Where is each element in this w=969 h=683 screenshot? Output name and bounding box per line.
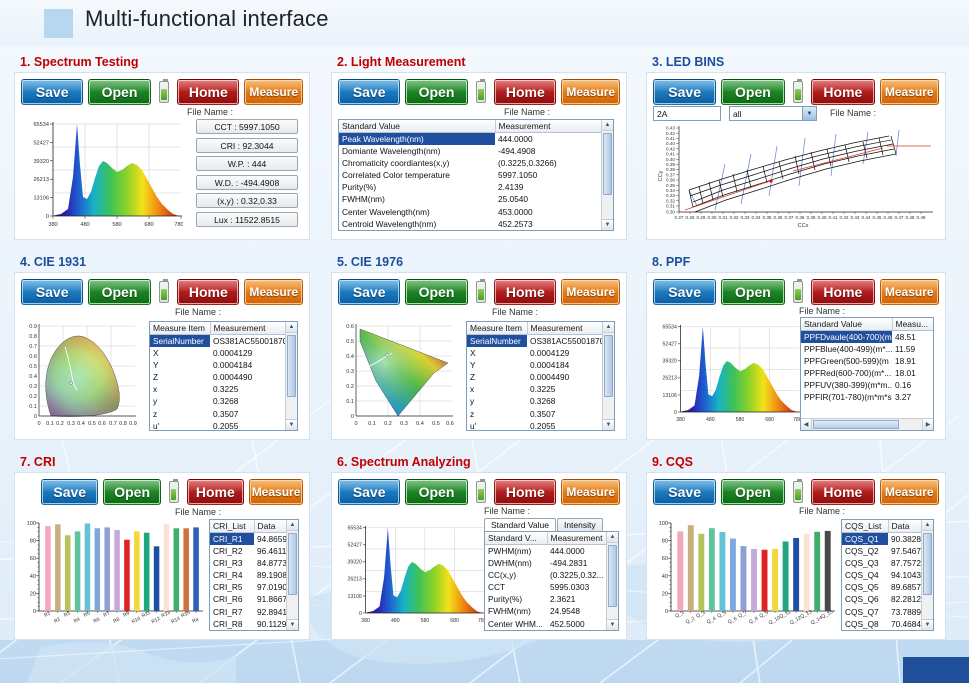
open-button[interactable]: Open bbox=[405, 479, 467, 505]
measured-point-marker bbox=[386, 354, 389, 357]
panel-cqs: 9. CQS Save Open Home Measure File Name … bbox=[646, 455, 946, 640]
table-row[interactable]: x0.3225 bbox=[467, 383, 615, 395]
tab-standard-value[interactable]: Standard Value bbox=[484, 518, 556, 531]
table-cell: x bbox=[150, 383, 210, 395]
home-button[interactable]: Home bbox=[811, 479, 874, 505]
table-row[interactable]: FWHM(nm)25.0540 bbox=[339, 193, 614, 205]
svg-text:40: 40 bbox=[662, 574, 668, 580]
measurement-table[interactable]: Standard Value Measurement Peak Waveleng… bbox=[338, 119, 614, 231]
vertical-scrollbar[interactable]: ▲ ▼ bbox=[921, 520, 933, 630]
scroll-thumb[interactable] bbox=[923, 533, 932, 595]
svg-text:R12: R12 bbox=[151, 616, 162, 626]
cqs-table[interactable]: CQS_List Data CQS_Q190.3828CQS_Q297.5467… bbox=[841, 519, 934, 631]
col-standard-value: Standard V... bbox=[485, 532, 547, 545]
table-cell: (0.3225,0.3266) bbox=[495, 157, 614, 169]
svg-text:0.8: 0.8 bbox=[119, 421, 127, 427]
svg-text:26213: 26213 bbox=[348, 577, 363, 583]
svg-text:0.3: 0.3 bbox=[29, 384, 37, 390]
table: Standard Value Measu... PPFDvaule(400-70… bbox=[801, 318, 934, 404]
cie-1976-chart: 0.60.50.4 0.30.20.10 00.10.20.3 0.40.50.… bbox=[338, 321, 460, 431]
scroll-down-icon[interactable]: ▼ bbox=[922, 619, 933, 630]
table-row[interactable]: Chromaticity coordiantes(x,y)(0.3225,0.3… bbox=[339, 157, 614, 169]
panel-led-bins: 3. LED BINS Save Open Home Measure 2A al… bbox=[646, 55, 946, 240]
svg-text:0.7: 0.7 bbox=[109, 421, 117, 427]
panel-label: CRI bbox=[34, 455, 56, 469]
scroll-up-icon[interactable]: ▲ bbox=[607, 532, 618, 543]
value-cri[interactable]: CRI : 92.3044 bbox=[196, 138, 298, 153]
save-button[interactable]: Save bbox=[338, 479, 400, 505]
table-cell: u' bbox=[150, 420, 210, 431]
table-row[interactable]: SerialNumberOS381AC55001870 bbox=[150, 335, 298, 348]
svg-text:0: 0 bbox=[351, 414, 354, 420]
measure-button[interactable]: Measure bbox=[244, 79, 303, 105]
table-row[interactable]: CRI92.3044 bbox=[339, 230, 614, 231]
svg-text:0.38: 0.38 bbox=[796, 215, 805, 220]
cie-1931-chart: 0.90.80.70.6 0.50.40.30.2 0.10 00.10.20.… bbox=[21, 321, 143, 431]
table-row[interactable]: Y0.0004184 bbox=[467, 359, 615, 371]
table-cell: x bbox=[467, 383, 527, 395]
table-row[interactable]: Correlated Color temperature5997.1050 bbox=[339, 169, 614, 181]
svg-text:52427: 52427 bbox=[348, 543, 363, 549]
table-row[interactable]: PPFBlue(400-499)(m*...11.59 bbox=[801, 343, 934, 355]
scroll-down-icon[interactable]: ▼ bbox=[607, 619, 618, 630]
scroll-up-icon[interactable]: ▲ bbox=[287, 520, 298, 531]
scroll-thumb[interactable] bbox=[608, 545, 617, 607]
svg-text:65534: 65534 bbox=[33, 122, 49, 128]
table-cell: 3.27 bbox=[892, 391, 934, 403]
led-bins-chart: 0.430.420.410.40 0.420.410.400.39 0.380.… bbox=[653, 124, 935, 230]
measurement-table[interactable]: Measure Item Measurement SerialNumberOS3… bbox=[466, 321, 615, 431]
svg-text:0.7: 0.7 bbox=[29, 344, 37, 350]
table-cell: PPFBlue(400-499)(m*... bbox=[801, 343, 892, 355]
table-cell: CQS_Q1 bbox=[842, 533, 888, 546]
scroll-up-icon[interactable]: ▲ bbox=[603, 322, 614, 333]
table-row[interactable]: z0.3507 bbox=[150, 408, 298, 420]
home-button[interactable]: Home bbox=[177, 79, 239, 105]
table-cell: SerialNumber bbox=[150, 335, 210, 348]
bin-filter-value: all bbox=[733, 109, 742, 119]
table-cell: FWHM(nm) bbox=[485, 605, 547, 617]
save-button[interactable]: Save bbox=[653, 479, 716, 505]
table-row[interactable]: Center WHM...452.5000 bbox=[485, 618, 619, 630]
table-cell: PPFRed(600-700)(m*... bbox=[801, 367, 892, 379]
bar bbox=[114, 530, 120, 611]
file-name-label: File Name : bbox=[799, 506, 845, 516]
table-row[interactable]: PWHM(nm)444.0000 bbox=[485, 545, 619, 558]
table-body: PPFDvaule(400-700)(m...48.51PPFBlue(400-… bbox=[801, 331, 934, 404]
save-button[interactable]: Save bbox=[338, 79, 400, 105]
svg-text:52427: 52427 bbox=[663, 342, 678, 348]
toolbar: Save Open Home Measure bbox=[653, 478, 939, 505]
col-measure-item: Measure Item bbox=[150, 322, 210, 335]
vertical-scrollbar[interactable]: ▲ ▼ bbox=[601, 120, 613, 230]
svg-text:0.37: 0.37 bbox=[785, 215, 794, 220]
open-button[interactable]: Open bbox=[721, 479, 784, 505]
table-row[interactable]: PPFRed(600-700)(m*...18.01 bbox=[801, 367, 934, 379]
table-cell: CRI_R6 bbox=[210, 593, 254, 605]
bar bbox=[75, 531, 81, 611]
value-lux[interactable]: Lux : 11522.8515 bbox=[196, 212, 298, 227]
svg-text:0.32: 0.32 bbox=[730, 215, 739, 220]
page-title: Multi-functional interface bbox=[85, 6, 329, 32]
svg-text:39320: 39320 bbox=[663, 359, 678, 365]
panel-cie-1931: 4. CIE 1931 Save Open Home Measure File … bbox=[14, 255, 310, 440]
bar bbox=[719, 532, 725, 611]
panel-number: 3. bbox=[652, 55, 662, 69]
table-cell: Domiante Wavelength(nm) bbox=[339, 145, 495, 157]
svg-text:0: 0 bbox=[34, 414, 37, 420]
table-row[interactable]: Purity(%)2.3621 bbox=[485, 593, 619, 605]
table-cell: Y bbox=[467, 359, 527, 371]
svg-text:100: 100 bbox=[659, 521, 668, 527]
svg-text:0.6: 0.6 bbox=[29, 354, 37, 360]
open-button[interactable]: Open bbox=[88, 279, 150, 305]
table-row[interactable]: CCT5995.0303 bbox=[485, 581, 619, 593]
table-row[interactable]: X0.0004129 bbox=[150, 347, 298, 359]
svg-text:0.1: 0.1 bbox=[346, 399, 354, 405]
svg-text:0.5: 0.5 bbox=[346, 339, 354, 345]
svg-text:0.9: 0.9 bbox=[29, 324, 37, 330]
svg-text:39320: 39320 bbox=[348, 560, 363, 566]
table-cell: 18.91 bbox=[892, 355, 934, 367]
scroll-thumb[interactable] bbox=[287, 335, 296, 397]
table-cell: u' bbox=[467, 420, 527, 431]
toolbar: Save Open Home Measure bbox=[338, 478, 620, 505]
scroll-right-icon[interactable]: ▶ bbox=[922, 419, 933, 430]
svg-text:CCx: CCx bbox=[798, 223, 809, 229]
battery-icon bbox=[169, 481, 179, 503]
col-cri-list: CRI_List bbox=[210, 520, 254, 533]
bar bbox=[814, 532, 820, 611]
table-cell: 444.0000 bbox=[495, 133, 614, 146]
table-cell: Z bbox=[467, 371, 527, 383]
table-cell: CRI_R5 bbox=[210, 581, 254, 593]
panel-label: CQS bbox=[666, 455, 693, 469]
table-cell: CQS_Q2 bbox=[842, 545, 888, 557]
measure-button[interactable]: Measure bbox=[561, 279, 620, 305]
table-row[interactable]: u'0.2055 bbox=[467, 420, 615, 431]
table-row[interactable]: DWHM(nm)-494.2831 bbox=[485, 557, 619, 569]
svg-text:0.3: 0.3 bbox=[346, 369, 354, 375]
scroll-down-icon[interactable]: ▼ bbox=[602, 219, 613, 230]
tab-intensity[interactable]: Intensity bbox=[557, 518, 603, 531]
bar bbox=[193, 527, 199, 611]
panel-number: 2. bbox=[337, 55, 347, 69]
save-button[interactable]: Save bbox=[41, 479, 98, 505]
home-button[interactable]: Home bbox=[187, 479, 244, 505]
scroll-down-icon[interactable]: ▼ bbox=[287, 619, 298, 630]
table-cell: CRI_R8 bbox=[210, 618, 254, 630]
table-cell: CQS_Q9 bbox=[842, 630, 888, 631]
value-wp[interactable]: W.P. : 444 bbox=[196, 156, 298, 171]
battery-icon bbox=[793, 81, 804, 103]
measure-button[interactable]: Measure bbox=[880, 479, 939, 505]
table-cell: Purity(%) bbox=[339, 181, 495, 193]
spectrum-analyzing-chart: 655345242739320 26213131060 380480580 68… bbox=[336, 517, 486, 633]
table-row[interactable]: Centroid WH...451.9012 bbox=[485, 630, 619, 631]
measure-button[interactable]: Measure bbox=[880, 279, 939, 305]
svg-text:480: 480 bbox=[706, 417, 715, 423]
measure-button[interactable]: Measure bbox=[561, 479, 620, 505]
bar bbox=[85, 523, 91, 611]
save-button[interactable]: Save bbox=[653, 79, 716, 105]
ppf-spectrum-chart: 655345242739320 26213131060 380480580 68… bbox=[651, 316, 801, 432]
table-row[interactable]: Centroid Wavelength(nm)452.2573 bbox=[339, 218, 614, 230]
table-row[interactable]: PPFUV(380-399)(m*m...0.16 bbox=[801, 379, 934, 391]
table-cell: X bbox=[467, 347, 527, 359]
scroll-up-icon[interactable]: ▲ bbox=[286, 322, 297, 333]
battery-icon bbox=[793, 481, 804, 503]
table-cell: CRI_R4 bbox=[210, 569, 254, 581]
svg-text:Ra: Ra bbox=[191, 616, 200, 624]
table-row[interactable]: u'0.2055 bbox=[150, 420, 298, 431]
table-row[interactable]: X0.0004129 bbox=[467, 347, 615, 359]
scroll-thumb[interactable] bbox=[604, 335, 613, 397]
save-button[interactable]: Save bbox=[21, 279, 83, 305]
measure-button[interactable]: Measure bbox=[561, 79, 620, 105]
horizontal-scrollbar[interactable]: ◀ ▶ bbox=[801, 418, 933, 430]
table-row[interactable]: z0.3507 bbox=[467, 408, 615, 420]
battery-icon bbox=[159, 81, 169, 103]
table-row[interactable]: y0.3268 bbox=[467, 395, 615, 407]
svg-text:0: 0 bbox=[674, 410, 677, 416]
home-button[interactable]: Home bbox=[177, 279, 239, 305]
measured-point-marker bbox=[70, 382, 73, 385]
chevron-down-icon[interactable]: ▼ bbox=[802, 107, 816, 120]
open-button[interactable]: Open bbox=[721, 79, 784, 105]
svg-text:CCy: CCy bbox=[658, 170, 664, 181]
table-cell: z bbox=[150, 408, 210, 420]
bar bbox=[751, 549, 757, 611]
file-name-label: File Name : bbox=[504, 107, 550, 117]
panel-title: 2. Light Measurement bbox=[337, 55, 627, 69]
table-row[interactable]: x0.3225 bbox=[150, 383, 298, 395]
svg-text:0.4: 0.4 bbox=[346, 354, 354, 360]
panel-ppf: 8. PPF Save Open Home Measure File Name … bbox=[646, 255, 946, 440]
table-row[interactable]: Z0.0004490 bbox=[467, 371, 615, 383]
value-cct[interactable]: CCT : 5997.1050 bbox=[196, 119, 298, 134]
open-button[interactable]: Open bbox=[405, 279, 467, 305]
vertical-scrollbar[interactable]: ▲ ▼ bbox=[285, 322, 297, 430]
table-row[interactable]: PPFGreen(500-599)(m ...18.91 bbox=[801, 355, 934, 367]
vertical-scrollbar[interactable]: ▲ ▼ bbox=[602, 322, 614, 430]
bar bbox=[174, 528, 180, 611]
svg-text:R6: R6 bbox=[93, 616, 102, 624]
table-cell: 5997.1050 bbox=[495, 169, 614, 181]
file-name-label: File Name : bbox=[484, 506, 530, 516]
svg-text:0.2: 0.2 bbox=[29, 394, 37, 400]
measure-button[interactable]: Measure bbox=[880, 79, 939, 105]
vertical-scrollbar[interactable]: ▲ ▼ bbox=[286, 520, 298, 630]
home-button[interactable]: Home bbox=[494, 79, 556, 105]
cri-bar-chart: 020406080100 R1R2R3R4R5R6R7R8R9R10R11R12… bbox=[17, 519, 207, 631]
svg-text:0.4: 0.4 bbox=[29, 374, 37, 380]
file-name-label: File Name : bbox=[492, 307, 538, 317]
panel-cie-1976: 5. CIE 1976 Save Open Home Measure File … bbox=[331, 255, 627, 440]
table-cell: Purity(%) bbox=[485, 593, 547, 605]
svg-text:380: 380 bbox=[676, 417, 685, 423]
bin-filter-select[interactable]: all ▼ bbox=[729, 106, 817, 121]
scroll-thumb[interactable] bbox=[813, 420, 899, 429]
svg-text:Q_2: Q_2 bbox=[685, 616, 696, 626]
col-cqs-list: CQS_List bbox=[842, 520, 888, 533]
table-cell: Center WHM... bbox=[485, 618, 547, 630]
table-row[interactable]: PPFDvaule(400-700)(m...48.51 bbox=[801, 331, 934, 344]
bar bbox=[825, 531, 831, 611]
svg-text:R5: R5 bbox=[83, 610, 92, 618]
open-button[interactable]: Open bbox=[88, 79, 150, 105]
scroll-thumb[interactable] bbox=[603, 133, 612, 195]
measure-button[interactable]: Measure bbox=[249, 479, 303, 505]
table-cell: CQS_Q8 bbox=[842, 618, 888, 630]
spectrum-chart: 655345242739320 26213131060 380480580 68… bbox=[21, 119, 183, 231]
table-header-row: Measure Item Measurement bbox=[150, 322, 298, 335]
table-cell: CC(x,y) bbox=[485, 569, 547, 581]
table-row[interactable]: CC(x,y)(0.3225,0.32... bbox=[485, 569, 619, 581]
table-cell: CRI_R3 bbox=[210, 557, 254, 569]
toolbar: Save Open Home Measure bbox=[21, 278, 303, 305]
table-cell: -494.4908 bbox=[495, 145, 614, 157]
save-button[interactable]: Save bbox=[653, 279, 716, 305]
bar bbox=[124, 540, 130, 611]
home-button[interactable]: Home bbox=[494, 479, 556, 505]
svg-text:80: 80 bbox=[662, 539, 668, 545]
svg-text:13106: 13106 bbox=[663, 393, 678, 399]
svg-text:0.2: 0.2 bbox=[56, 421, 64, 427]
scroll-left-icon[interactable]: ◀ bbox=[801, 419, 812, 430]
battery-icon bbox=[476, 81, 486, 103]
table-cell: 2.4139 bbox=[495, 181, 614, 193]
vertical-scrollbar[interactable]: ▲ ▼ bbox=[606, 532, 618, 630]
table-cell: Centroid WH... bbox=[485, 630, 547, 631]
toolbar: Save Open Home Measure bbox=[338, 278, 620, 305]
ppf-table[interactable]: Standard Value Measu... PPFDvaule(400-70… bbox=[800, 317, 934, 431]
analyzing-table[interactable]: Standard V... Measurement PWHM(nm)444.00… bbox=[484, 531, 619, 631]
bar bbox=[45, 526, 51, 611]
panel-number: 9. bbox=[652, 455, 662, 469]
measure-button[interactable]: Measure bbox=[244, 279, 303, 305]
svg-text:0: 0 bbox=[359, 611, 362, 617]
table-row[interactable]: Domiante Wavelength(nm)-494.4908 bbox=[339, 145, 614, 157]
table-body: Peak Wavelength(nm)444.0000Domiante Wave… bbox=[339, 133, 614, 232]
open-button[interactable]: Open bbox=[721, 279, 784, 305]
col-measure-item: Measure Item bbox=[467, 322, 527, 335]
svg-text:580: 580 bbox=[736, 417, 745, 423]
bar bbox=[65, 535, 71, 611]
cri-table[interactable]: CRI_List Data CRI_R194.8659CRI_R296.4611… bbox=[209, 519, 299, 631]
svg-text:0: 0 bbox=[33, 609, 36, 615]
svg-text:0.40: 0.40 bbox=[818, 215, 827, 220]
table-row[interactable]: FWHM(nm)24.9548 bbox=[485, 605, 619, 617]
table-cell: 48.51 bbox=[892, 331, 934, 344]
svg-text:80: 80 bbox=[30, 539, 36, 545]
battery-icon bbox=[793, 281, 804, 303]
save-button[interactable]: Save bbox=[338, 279, 400, 305]
table-row[interactable]: SerialNumberOS381AC55001870 bbox=[467, 335, 615, 348]
table-row[interactable]: y0.3268 bbox=[150, 395, 298, 407]
table-header-row: Standard V... Measurement bbox=[485, 532, 619, 545]
bar bbox=[183, 528, 189, 611]
svg-text:0.1: 0.1 bbox=[368, 421, 376, 427]
bar bbox=[144, 533, 150, 611]
home-button[interactable]: Home bbox=[494, 279, 556, 305]
panel-title: 1. Spectrum Testing bbox=[20, 55, 310, 69]
svg-text:65534: 65534 bbox=[348, 526, 363, 532]
svg-text:0.47: 0.47 bbox=[895, 215, 904, 220]
scroll-up-icon[interactable]: ▲ bbox=[922, 520, 933, 531]
scroll-down-icon[interactable]: ▼ bbox=[603, 419, 614, 430]
svg-text:0: 0 bbox=[46, 214, 49, 220]
measured-point-marker bbox=[769, 179, 772, 182]
home-button[interactable]: Home bbox=[811, 279, 874, 305]
table-header-row: Standard Value Measurement bbox=[339, 120, 614, 133]
svg-text:380: 380 bbox=[48, 222, 57, 228]
table-cell: CQS_Q5 bbox=[842, 581, 888, 593]
svg-text:0.42: 0.42 bbox=[840, 215, 849, 220]
panel-light-measurement: 2. Light Measurement Save Open Home Meas… bbox=[331, 55, 627, 240]
table-row[interactable]: Center Wavelength(nm)453.0000 bbox=[339, 206, 614, 218]
table-cell: CRI_R2 bbox=[210, 545, 254, 557]
table-row[interactable]: Y0.0004184 bbox=[150, 359, 298, 371]
scroll-thumb[interactable] bbox=[288, 533, 297, 595]
svg-text:580: 580 bbox=[421, 618, 430, 624]
table-cell: FWHM(nm) bbox=[339, 193, 495, 205]
page-header: Multi-functional interface bbox=[0, 0, 969, 46]
panel-title: 4. CIE 1931 bbox=[20, 255, 310, 269]
table-cell: 92.3044 bbox=[495, 230, 614, 231]
svg-text:0.2: 0.2 bbox=[346, 384, 354, 390]
save-button[interactable]: Save bbox=[21, 79, 83, 105]
measurement-table[interactable]: Measure Item Measurement SerialNumberOS3… bbox=[149, 321, 298, 431]
file-name-label: File Name : bbox=[175, 507, 221, 517]
battery-icon bbox=[476, 481, 486, 503]
value-xy[interactable]: (x,y) : 0.32,0.33 bbox=[196, 193, 298, 208]
table-row[interactable]: PPFIR(701-780)(m*m*s)3.27 bbox=[801, 391, 934, 403]
table-cell: Chromaticity coordiantes(x,y) bbox=[339, 157, 495, 169]
table-header-row: Standard Value Measu... bbox=[801, 318, 934, 331]
scroll-down-icon[interactable]: ▼ bbox=[286, 419, 297, 430]
svg-text:60: 60 bbox=[662, 556, 668, 562]
svg-text:0.44: 0.44 bbox=[862, 215, 871, 220]
toolbar: Save Open Home Measure bbox=[21, 478, 303, 505]
open-button[interactable]: Open bbox=[103, 479, 160, 505]
table-row[interactable]: Peak Wavelength(nm)444.0000 bbox=[339, 133, 614, 146]
svg-text:0.43: 0.43 bbox=[851, 215, 860, 220]
svg-text:0.6: 0.6 bbox=[446, 421, 454, 427]
bin-code-input[interactable]: 2A bbox=[653, 106, 721, 121]
home-button[interactable]: Home bbox=[811, 79, 874, 105]
svg-text:0.36: 0.36 bbox=[774, 215, 783, 220]
table-cell: CQS_Q4 bbox=[842, 569, 888, 581]
open-button[interactable]: Open bbox=[405, 79, 467, 105]
bar bbox=[730, 539, 736, 611]
panel-spectrum-testing: 1. Spectrum Testing Save Open Home Measu… bbox=[14, 55, 310, 240]
svg-text:40: 40 bbox=[30, 574, 36, 580]
table-cell: 0.16 bbox=[892, 379, 934, 391]
svg-text:0: 0 bbox=[354, 421, 357, 427]
table-cell: y bbox=[150, 395, 210, 407]
table-cell: 11.59 bbox=[892, 343, 934, 355]
svg-text:680: 680 bbox=[144, 222, 153, 228]
svg-text:0: 0 bbox=[37, 421, 40, 427]
svg-text:0.33: 0.33 bbox=[741, 215, 750, 220]
bar bbox=[677, 531, 683, 611]
corner-accent bbox=[903, 657, 969, 683]
table-row[interactable]: Z0.0004490 bbox=[150, 371, 298, 383]
table-row[interactable]: Purity(%)2.4139 bbox=[339, 181, 614, 193]
scroll-up-icon[interactable]: ▲ bbox=[602, 120, 613, 131]
value-wd[interactable]: W.D. : -494.4908 bbox=[196, 175, 298, 190]
